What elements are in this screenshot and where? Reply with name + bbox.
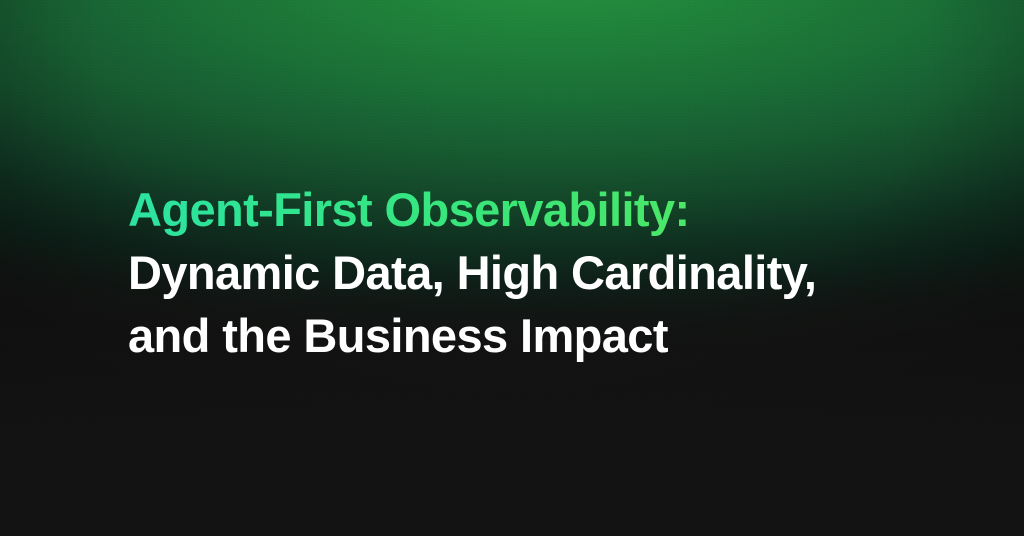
headline-line-2: Dynamic Data, High Cardinality,	[128, 241, 968, 304]
headline-accent-line: Agent-First Observability:	[128, 178, 968, 241]
headline-block: Agent-First Observability: Dynamic Data,…	[128, 178, 968, 367]
hero-banner: Agent-First Observability: Dynamic Data,…	[0, 0, 1024, 536]
headline-line-3: and the Business Impact	[128, 304, 968, 367]
